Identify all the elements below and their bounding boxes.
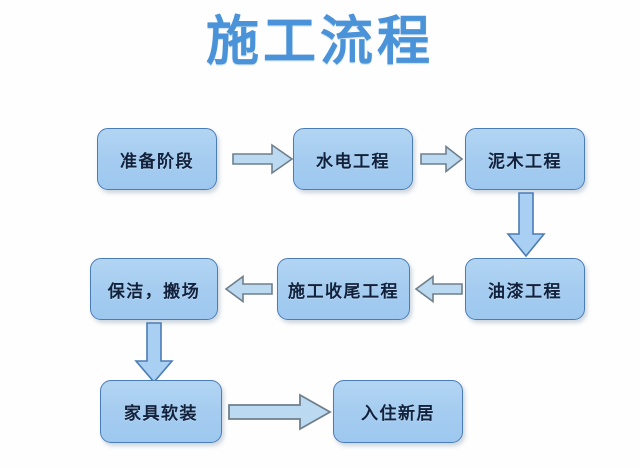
flow-node-plumbing-electrical[interactable]: 水电工程 (293, 128, 413, 190)
arrow-right-prep-to-plumbing (232, 143, 294, 175)
page-title: 施工流程 (0, 8, 640, 74)
flow-node-painting[interactable]: 油漆工程 (465, 258, 585, 320)
flow-node-label: 准备阶段 (120, 147, 194, 172)
flow-node-furniture-decoration[interactable]: 家具软装 (100, 380, 222, 443)
flow-node-label: 油漆工程 (488, 277, 562, 302)
flow-node-label: 入住新居 (361, 399, 435, 424)
flow-node-label: 家具软装 (124, 399, 198, 424)
flow-node-cleaning-moving[interactable]: 保洁，搬场 (90, 258, 218, 320)
arrow-down-masonry-to-painting (505, 192, 547, 258)
flow-node-move-in[interactable]: 入住新居 (333, 380, 463, 443)
flowchart-canvas: 施工流程 准备阶段 水电工程 泥木工程 保洁，搬场 施工收尾工程 (0, 0, 640, 468)
flow-node-label: 保洁，搬场 (108, 277, 201, 302)
flow-node-construction-finishing[interactable]: 施工收尾工程 (277, 258, 410, 320)
flow-node-label: 泥木工程 (488, 147, 562, 172)
arrow-right-plumbing-to-masonry (420, 145, 464, 173)
flow-node-masonry-woodwork[interactable]: 泥木工程 (465, 128, 585, 190)
arrow-down-cleaning-to-furniture (133, 322, 175, 384)
flow-node-preparation[interactable]: 准备阶段 (97, 128, 217, 190)
arrow-left-painting-to-finishing (414, 275, 464, 303)
flow-node-label: 施工收尾工程 (288, 277, 399, 302)
arrow-left-finishing-to-cleaning (224, 275, 274, 303)
flow-node-label: 水电工程 (316, 147, 390, 172)
arrow-right-furniture-to-movein (228, 393, 332, 431)
